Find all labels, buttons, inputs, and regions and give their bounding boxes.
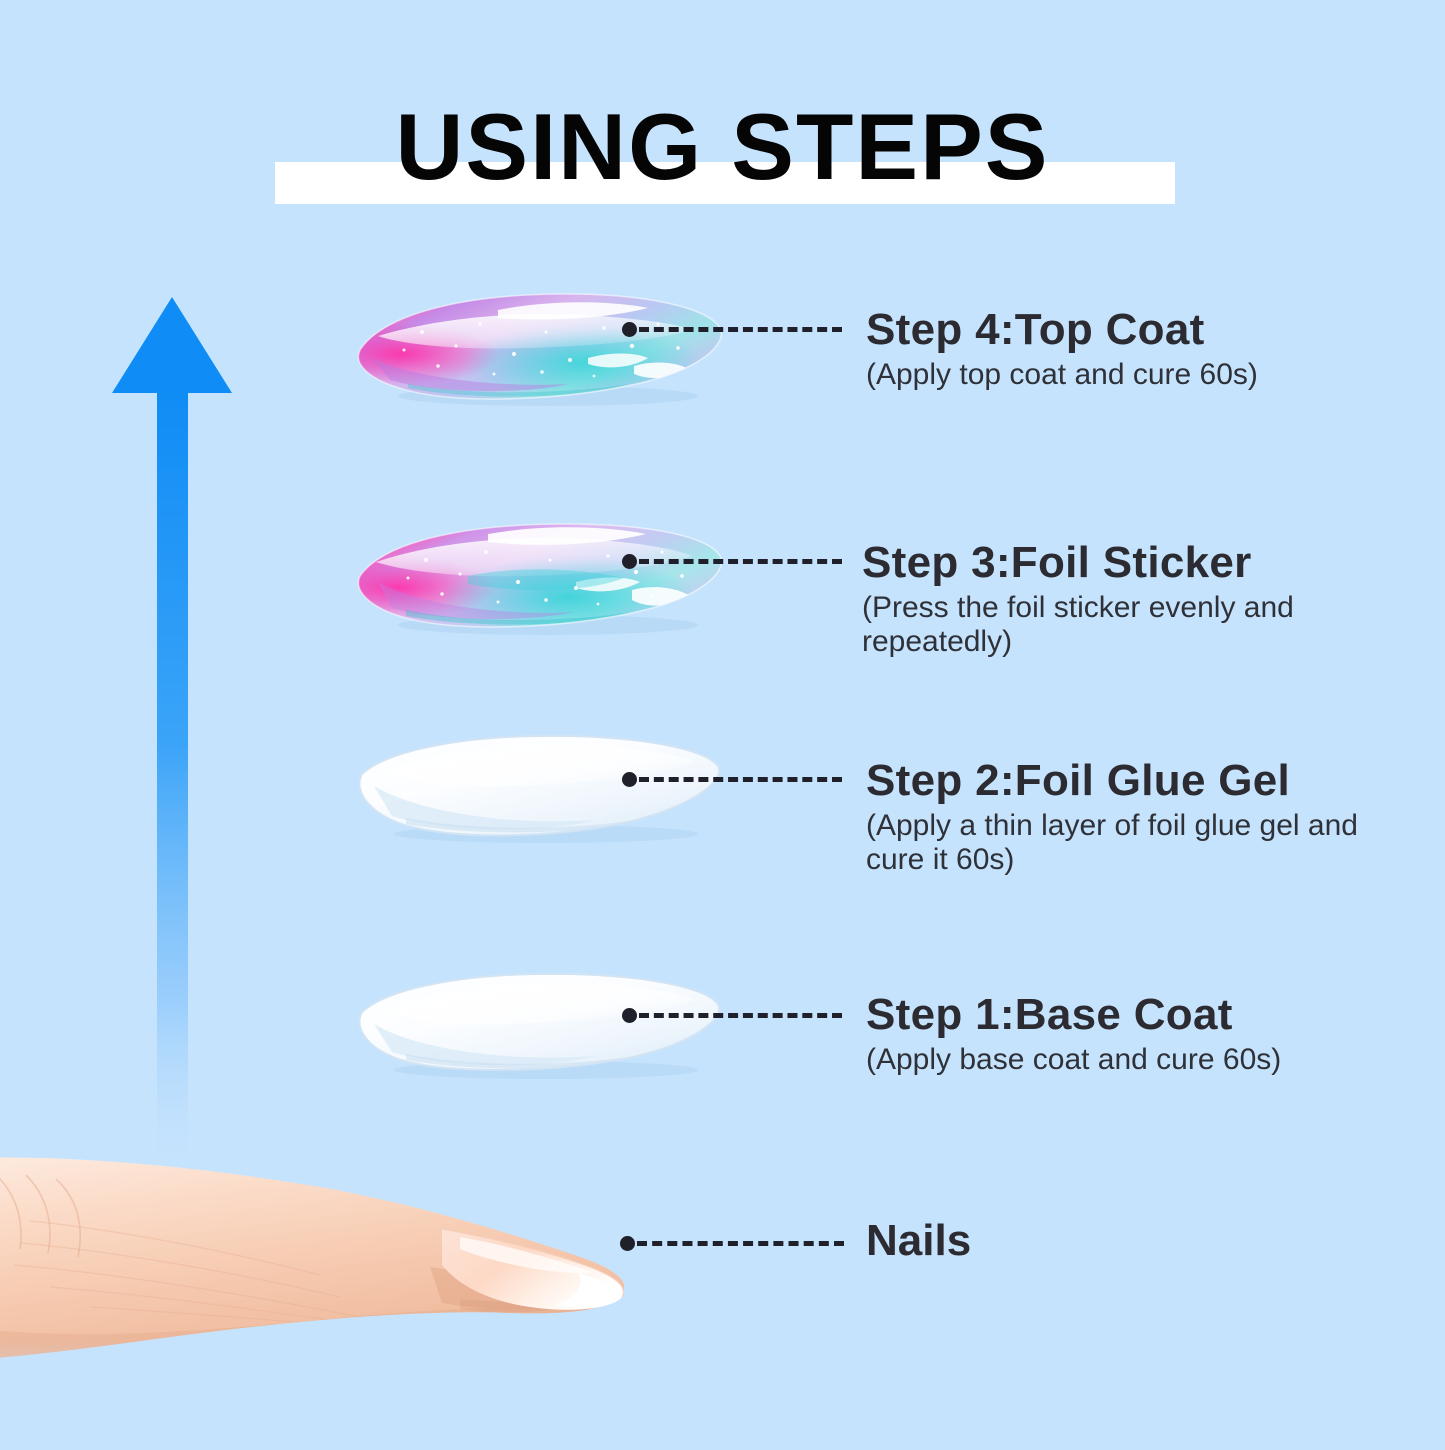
leader-dashes — [637, 1241, 844, 1246]
process-direction-arrow — [110, 285, 250, 1185]
step-label-4: Step 4:Top Coat (Apply top coat and cure… — [866, 305, 1406, 392]
step-label-2: Step 2:Foil Glue Gel (Apply a thin layer… — [866, 756, 1436, 876]
step-subtext-line1: (Apply a thin layer of foil glue gel and — [866, 809, 1358, 842]
step-subtext-line1: (Apply base coat and cure 60s) — [866, 1043, 1281, 1076]
step-heading: Step 3:Foil Sticker — [862, 538, 1422, 587]
leader-line-step-1 — [622, 1004, 842, 1026]
leader-line-step-4 — [622, 318, 842, 340]
nails-label: Nails — [866, 1216, 971, 1266]
leader-line-step-2 — [622, 768, 842, 790]
step-subtext-line2: cure it 60s) — [866, 843, 1436, 877]
step-subtext: (Press the foil sticker evenly and repea… — [862, 591, 1422, 658]
step-label-3: Step 3:Foil Sticker (Press the foil stic… — [862, 538, 1422, 658]
step-subtext: (Apply base coat and cure 60s) — [866, 1043, 1406, 1077]
step-subtext-line2: repeatedly) — [862, 625, 1422, 659]
fingertip-icon — [0, 1125, 670, 1445]
leader-dot — [622, 554, 637, 569]
page-title: USING STEPS — [0, 100, 1445, 194]
step-label-1: Step 1:Base Coat (Apply base coat and cu… — [866, 990, 1406, 1077]
leader-line-step-3 — [622, 550, 842, 572]
leader-dot — [620, 1236, 635, 1251]
step-heading: Step 2:Foil Glue Gel — [866, 756, 1436, 805]
step-subtext: (Apply top coat and cure 60s) — [866, 358, 1406, 392]
nail-tip-galaxy-icon — [348, 288, 728, 408]
infographic-canvas: USING STEPS — [0, 0, 1445, 1445]
leader-dot — [622, 1008, 637, 1023]
leader-dashes — [639, 327, 842, 332]
step-heading: Step 4:Top Coat — [866, 305, 1406, 354]
leader-dot — [622, 322, 637, 337]
leader-dashes — [639, 1013, 842, 1018]
step-heading: Step 1:Base Coat — [866, 990, 1406, 1039]
leader-dashes — [639, 559, 842, 564]
leader-dot — [622, 772, 637, 787]
nail-tip-galaxy-icon — [348, 518, 728, 638]
leader-dashes — [639, 777, 842, 782]
step-subtext-line1: (Apply top coat and cure 60s) — [866, 358, 1258, 391]
step-subtext: (Apply a thin layer of foil glue gel and… — [866, 809, 1436, 876]
leader-line-nails — [620, 1232, 844, 1254]
step-subtext-line1: (Press the foil sticker evenly and — [862, 591, 1294, 624]
